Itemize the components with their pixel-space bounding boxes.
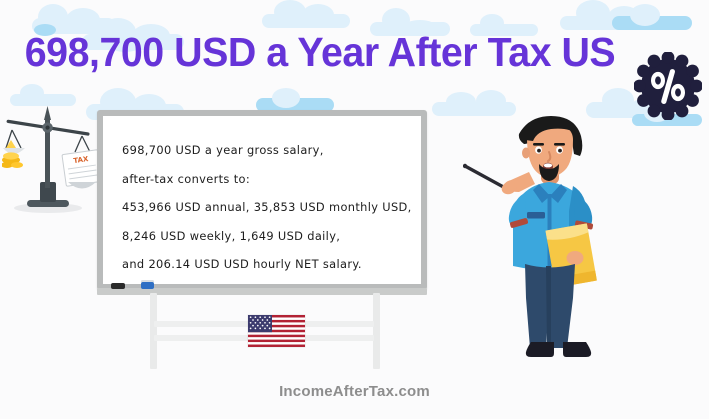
title-row: 698,700 USD a Year After Tax US [0, 22, 709, 84]
marker-icon [111, 283, 125, 289]
balance-scale-icon: TAX [2, 104, 106, 216]
infographic-canvas: 698,700 USD a Year After Tax US [0, 0, 709, 419]
percent-badge-icon [634, 52, 702, 120]
board-line: and 206.14 USD USD hourly NET salary. [122, 250, 409, 279]
whiteboard-text: 698,700 USD a year gross salary, after-t… [122, 136, 409, 279]
board-line: 698,700 USD a year gross salary, [122, 136, 409, 165]
site-footer: IncomeAfterTax.com [0, 383, 709, 400]
eraser-icon [141, 282, 154, 289]
page-title: 698,700 USD a Year After Tax US [13, 22, 627, 82]
pointer-stick [463, 164, 509, 190]
us-flag-icon [248, 315, 305, 347]
board-line: 8,246 USD weekly, 1,649 USD daily, [122, 222, 409, 251]
whiteboard: 698,700 USD a year gross salary, after-t… [97, 110, 427, 290]
board-line: 453,966 USD annual, 35,853 USD monthly U… [122, 193, 409, 222]
presenter-illustration [463, 108, 638, 358]
board-line: after-tax converts to: [122, 165, 409, 194]
